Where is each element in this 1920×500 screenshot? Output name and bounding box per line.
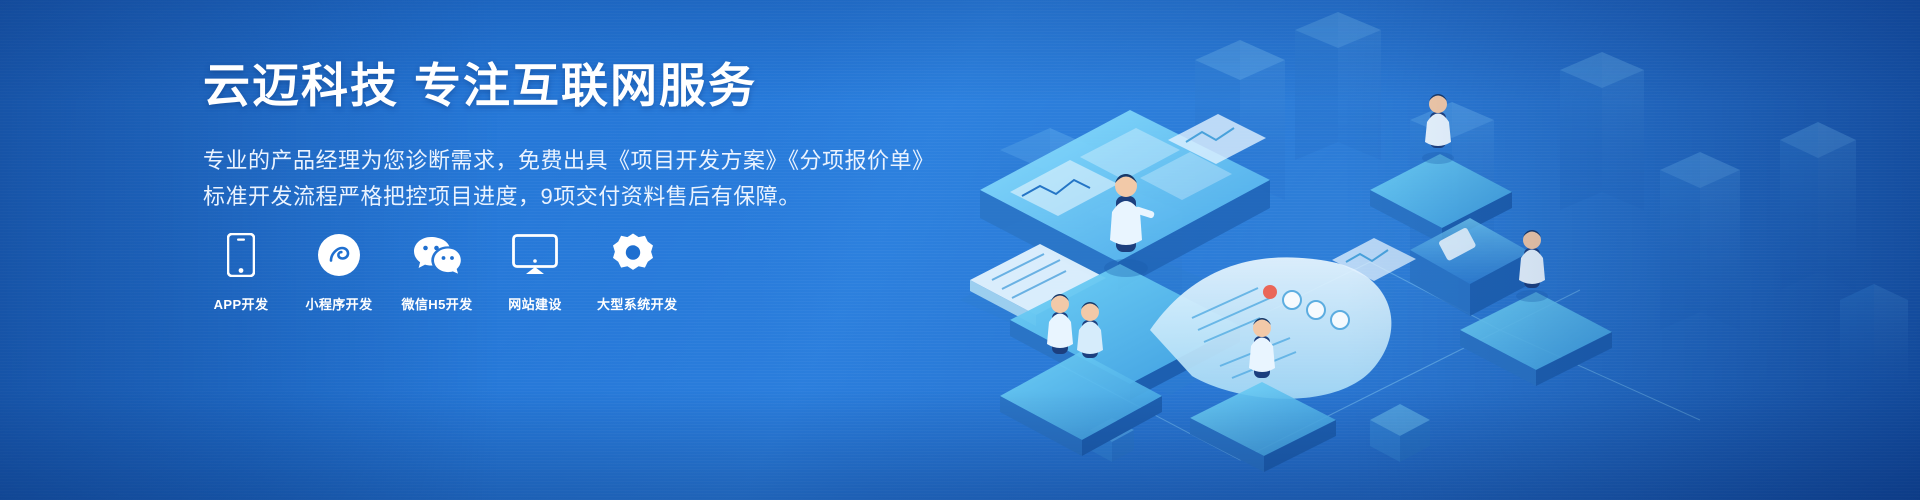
service-item-miniprogram[interactable]: 小程序开发 [303, 232, 375, 313]
service-list: APP开发 小程序开发 微信 [205, 232, 669, 313]
subtitle-line-2: 标准开发流程严格把控项目进度，9项交付资料售后有保障。 [203, 179, 1103, 215]
service-item-website[interactable]: 网站建设 [499, 232, 571, 313]
hero-banner: 云迈科技 专注互联网服务 专业的产品经理为您诊断需求，免费出具《项目开发方案》《… [0, 0, 1920, 500]
mobile-phone-icon [205, 232, 277, 278]
subtitle-line-1: 专业的产品经理为您诊断需求，免费出具《项目开发方案》《分项报价单》 [203, 143, 1103, 179]
service-label: APP开发 [205, 294, 277, 313]
mini-program-icon [303, 232, 375, 278]
wechat-icon [401, 232, 473, 278]
page-title: 云迈科技 专注互联网服务 [203, 62, 1103, 109]
service-label: 微信H5开发 [401, 294, 473, 313]
service-label: 小程序开发 [303, 294, 375, 313]
monitor-icon [499, 232, 571, 278]
service-item-large-system[interactable]: 大型系统开发 [597, 232, 669, 313]
service-label: 大型系统开发 [597, 294, 669, 313]
service-label: 网站建设 [499, 294, 571, 313]
service-item-app[interactable]: APP开发 [205, 232, 277, 313]
gear-icon [597, 232, 669, 278]
banner-content: 云迈科技 专注互联网服务 专业的产品经理为您诊断需求，免费出具《项目开发方案》《… [203, 62, 1103, 215]
service-item-wechat-h5[interactable]: 微信H5开发 [401, 232, 473, 313]
